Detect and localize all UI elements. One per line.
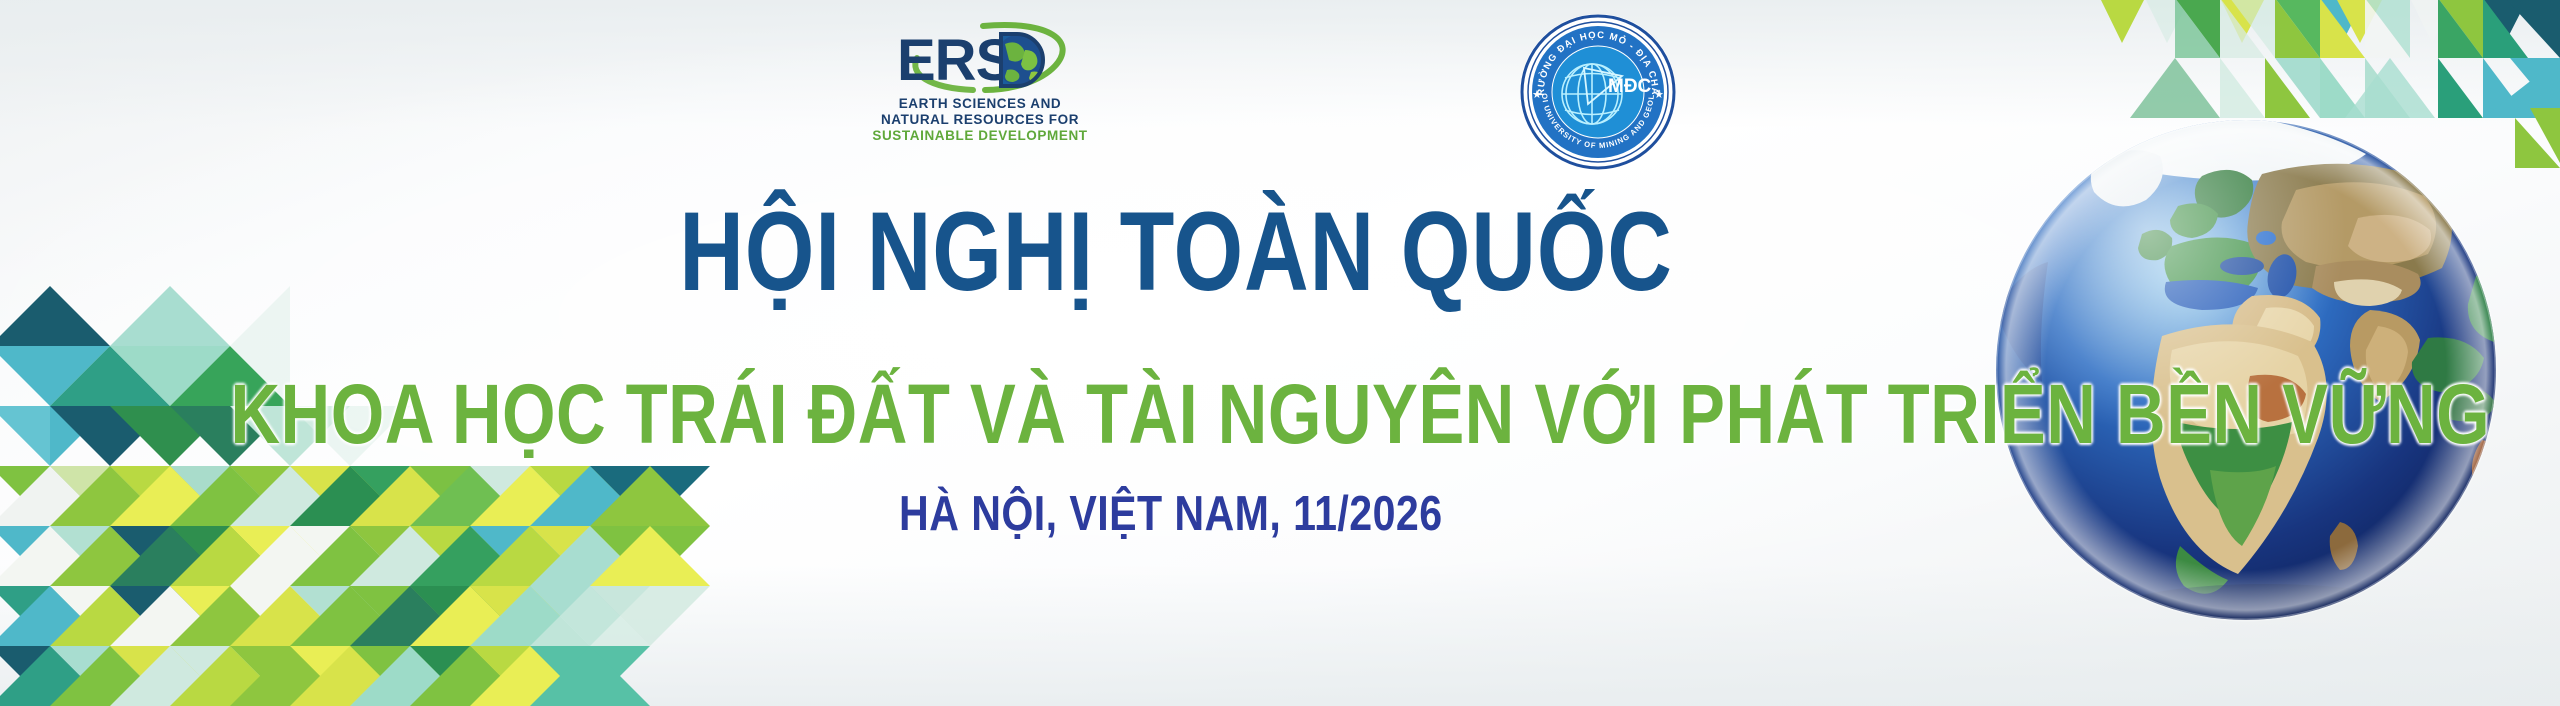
ersd-tagline-line-1: EARTH SCIENCES AND [855,96,1105,112]
humg-university-seal: TRƯỜNG ĐẠI HỌC MỎ - ĐỊA CHẤT HANOI UNIVE… [1518,12,1678,172]
svg-text:★: ★ [1654,89,1664,101]
svg-text:★: ★ [1532,89,1542,101]
page-subtitle: KHOA HỌC TRÁI ĐẤT VÀ TÀI NGUYÊN VỚI PHÁT… [230,372,2329,456]
conference-banner: ERS EARTH SCIENCES AND NATURAL RESOURCE [0,0,2560,706]
ersd-tagline-line-3: SUSTAINABLE DEVELOPMENT [855,128,1105,144]
ersd-tagline-line-2: NATURAL RESOURCES FOR [855,112,1105,128]
svg-text:ERS: ERS [897,28,1013,93]
humg-abbreviation: MĐC [1608,76,1652,97]
ersd-logo: ERS EARTH SCIENCES AND NATURAL RESOURCE [855,18,1105,148]
university-seal-icon: TRƯỜNG ĐẠI HỌC MỎ - ĐỊA CHẤT HANOI UNIVE… [1518,12,1678,172]
date-location-text: HÀ NỘI, VIỆT NAM, 11/2026 [205,490,2355,539]
triangle-mosaic-top-right [2100,0,2560,208]
ersd-wordmark-icon: ERS [855,18,1105,96]
page-title: HỘI NGHỊ TOÀN QUỐC [256,196,2304,308]
